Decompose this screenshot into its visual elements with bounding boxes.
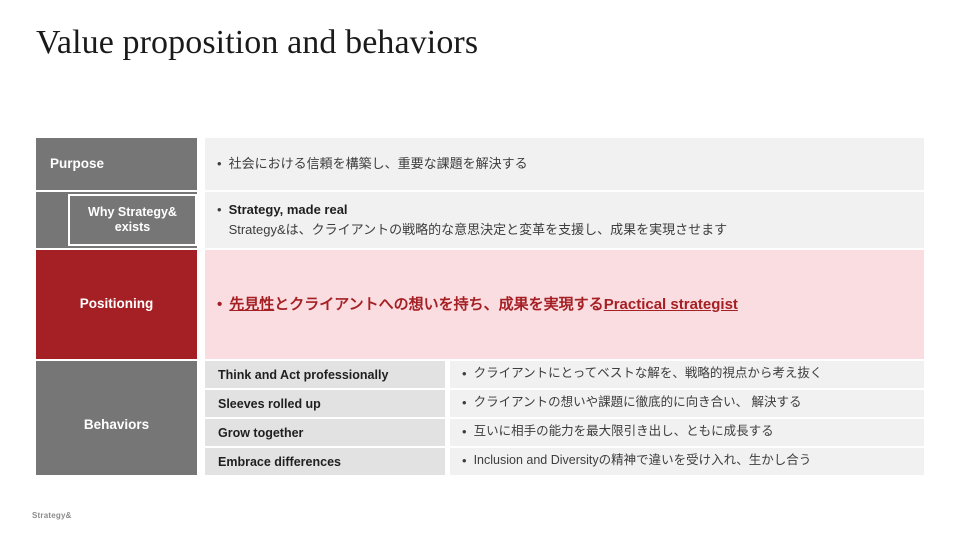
list-item: Grow together • 互いに相手の能力を最大限引き出し、ともに成長する [205,419,924,446]
behavior-name: Grow together [205,419,445,446]
why-text-line2: Strategy&は、クライアントの戦略的な意思決定と変革を支援し、成果を実現さ… [229,222,728,237]
behavior-description: クライアントにとってベストな解を、戦略的視点から考え抜く [474,364,823,383]
cell-purpose-content: • 社会における信頼を構築し、重要な課題を解決する [205,138,924,190]
bullet-item: • クライアントの想いや課題に徹底的に向き合い、 解決する [462,393,802,413]
behavior-name: Embrace differences [205,448,445,475]
bullet-dot-icon: • [217,293,222,316]
column-gutter [197,250,205,359]
positioning-middle-text: とクライアントへの想いを持ち、成果を実現する [274,296,603,313]
row-label-positioning: Positioning [36,250,197,359]
behavior-description: Inclusion and Diversityの精神で違いを受け入れ、生かし合う [474,451,812,470]
column-gutter [197,138,205,190]
row-label-purpose: Purpose [36,138,197,190]
bullet-item: • Inclusion and Diversityの精神で違いを受け入れ、生かし… [462,451,811,471]
table-row-behaviors: Behaviors Think and Act professionally •… [36,361,924,475]
behaviors-list: Think and Act professionally • クライアントにとっ… [205,361,924,475]
table-row-why-strategy-exists: Why Strategy& exists • Strategy, made re… [36,192,924,248]
page-title: Value proposition and behaviors [36,24,478,62]
behavior-description: クライアントの想いや課題に徹底的に向き合い、 解決する [474,393,802,412]
table-row-positioning: Positioning • 先見性とクライアントへの想いを持ち、成果を実現するP… [36,250,924,359]
bullet-dot-icon: • [462,422,467,442]
bullet-dot-icon: • [462,451,467,471]
positioning-emphasis-2: Practical strategist [604,296,738,313]
list-item: Sleeves rolled up • クライアントの想いや課題に徹底的に向き合… [205,390,924,417]
table-row-purpose: Purpose • 社会における信頼を構築し、重要な課題を解決する [36,138,924,190]
row-label-why-box: Why Strategy& exists [68,194,197,246]
behavior-description-cell: • クライアントにとってベストな解を、戦略的視点から考え抜く [450,361,924,388]
bullet-item: • 互いに相手の能力を最大限引き出し、ともに成長する [462,422,774,442]
why-text-line1: Strategy, made real [229,202,348,217]
bullet-dot-icon: • [217,200,222,220]
bullet-item: • 先見性とクライアントへの想いを持ち、成果を実現するPractical str… [217,293,738,316]
list-item: Think and Act professionally • クライアントにとっ… [205,361,924,388]
column-gutter [197,361,205,475]
list-item: Embrace differences • Inclusion and Dive… [205,448,924,475]
behavior-description-cell: • 互いに相手の能力を最大限引き出し、ともに成長する [450,419,924,446]
row-label-behaviors-text: Behaviors [84,417,149,432]
row-label-behaviors: Behaviors [36,361,197,475]
value-proposition-matrix: Purpose • 社会における信頼を構築し、重要な課題を解決する Why St… [36,138,924,475]
behavior-description-cell: • Inclusion and Diversityの精神で違いを受け入れ、生かし… [450,448,924,475]
bullet-item: • Strategy, made real Strategy&は、クライアントの… [217,200,727,240]
row-label-purpose-text: Purpose [36,156,197,173]
cell-why-content: • Strategy, made real Strategy&は、クライアントの… [205,192,924,248]
positioning-emphasis-1: 先見性 [229,296,274,313]
bullet-item: • クライアントにとってベストな解を、戦略的視点から考え抜く [462,364,822,384]
slide-canvas: Value proposition and behaviors Purpose … [0,0,960,540]
bullet-item: • 社会における信頼を構築し、重要な課題を解決する [217,154,528,174]
why-text-block: Strategy, made real Strategy&は、クライアントの戦略… [229,200,728,240]
row-label-positioning-text: Positioning [80,296,154,313]
behavior-name: Sleeves rolled up [205,390,445,417]
row-label-why-text: Why Strategy& exists [70,205,195,236]
column-gutter [197,192,205,248]
footer-logo: Strategy& [32,511,72,520]
row-label-why-wrapper: Why Strategy& exists [36,192,197,248]
cell-positioning-content: • 先見性とクライアントへの想いを持ち、成果を実現するPractical str… [205,250,924,359]
behavior-name: Think and Act professionally [205,361,445,388]
bullet-dot-icon: • [462,364,467,384]
behavior-description: 互いに相手の能力を最大限引き出し、ともに成長する [474,422,774,441]
bullet-dot-icon: • [217,154,222,174]
bullet-dot-icon: • [462,393,467,413]
behavior-description-cell: • クライアントの想いや課題に徹底的に向き合い、 解決する [450,390,924,417]
purpose-text: 社会における信頼を構築し、重要な課題を解決する [229,154,528,174]
positioning-text-block: 先見性とクライアントへの想いを持ち、成果を実現するPractical strat… [229,293,738,316]
